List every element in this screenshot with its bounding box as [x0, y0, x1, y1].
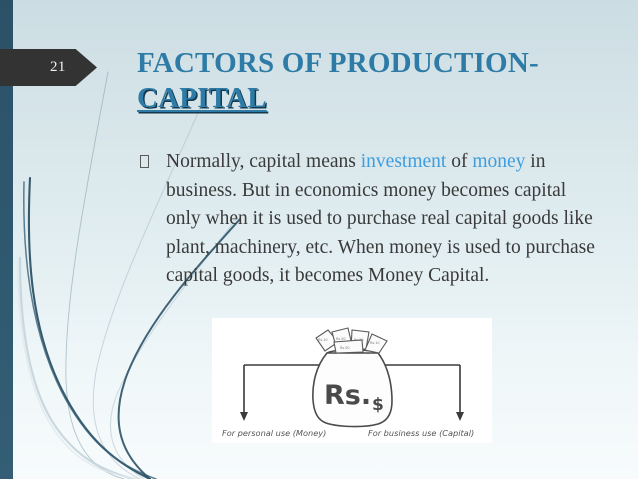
banknote-label: Rs.50: [336, 337, 346, 341]
title-line-two: CAPITAL: [137, 81, 267, 116]
bag-currency-label: Rs.: [324, 380, 371, 411]
bullet-list: Normally, capital means investment of mo…: [140, 148, 595, 291]
bullet-paragraph: Normally, capital means investment of mo…: [166, 148, 595, 291]
missing-glyph-box-icon: [140, 148, 166, 291]
money-bag-illustration: Rs.10 Rs.50 Rs.20 Rs.10 Rs.50 Rs. $: [313, 328, 392, 427]
arrow-head-right: [456, 412, 464, 421]
money-link[interactable]: money: [472, 151, 525, 172]
title-line-one: FACTORS OF PRODUCTION-: [137, 46, 607, 81]
banknote-label: Rs.10: [370, 341, 380, 345]
bullet-text-segment-1: Normally, capital means: [166, 151, 361, 172]
money-bag-figure: Rs.10 Rs.50 Rs.20 Rs.10 Rs.50 Rs. $ For …: [212, 318, 492, 443]
slide-number-text: 21: [50, 59, 66, 76]
bullet-text-segment-2: of: [446, 151, 472, 172]
money-bag-diagram: Rs.10 Rs.50 Rs.20 Rs.10 Rs.50 Rs. $ For …: [212, 318, 492, 443]
bag-dollar-symbol: $: [372, 395, 384, 415]
investment-link[interactable]: investment: [361, 151, 447, 172]
banknote-label: Rs.20: [354, 338, 364, 342]
page-title: FACTORS OF PRODUCTION- CAPITAL: [137, 46, 607, 116]
caption-personal-use: For personal use (Money): [222, 428, 326, 438]
caption-business-use: For business use (Capital): [368, 428, 474, 438]
presentation-slide: 21 FACTORS OF PRODUCTION- CAPITAL Normal…: [0, 0, 638, 479]
slide-number-badge: 21: [0, 49, 97, 86]
banknote-label: Rs.10: [318, 338, 328, 342]
banknote-label: Rs.50: [340, 346, 350, 350]
arrow-head-left: [240, 412, 248, 421]
